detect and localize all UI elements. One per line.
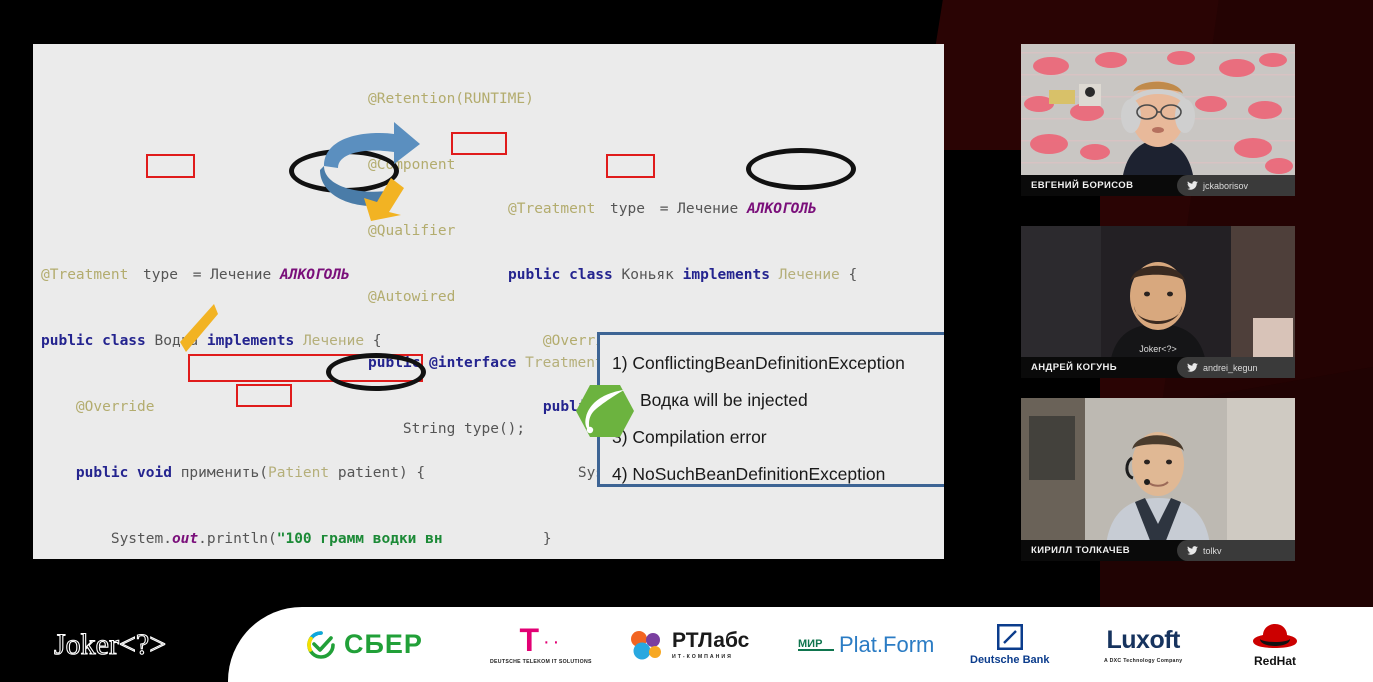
broadcast-screen: @Retention(RUNTIME) @Component @Qualifie… — [0, 0, 1373, 682]
joker-logo-text: Joker<?> — [54, 628, 166, 661]
redhat-label: RedHat — [1254, 654, 1296, 668]
answer-option-1[interactable]: 1) ConflictingBeanDefinitionException — [612, 345, 944, 382]
telekom-caption: DEUTSCHE TELEKOM IT SOLUTIONS — [490, 659, 592, 665]
sponsor-logo-deutsche-telekom[interactable]: T ·· DEUTSCHE TELEKOM IT SOLUTIONS — [490, 607, 592, 682]
sponsor-logo-redhat[interactable]: RedHat — [1250, 607, 1300, 682]
twitter-icon — [1187, 546, 1198, 555]
yellow-slash-icon — [178, 302, 218, 354]
deutsche-bank-icon — [997, 624, 1023, 650]
video-tile-speaker-3[interactable]: КИРИЛЛ ТОЛКАЧЕВ tolkv — [1021, 398, 1295, 561]
sber-label: СБЕР — [344, 629, 423, 660]
speaker-name-1: ЕВГЕНИЙ БОРИСОВ — [1031, 180, 1133, 191]
rtlabs-mark-icon — [628, 630, 666, 660]
rtlabs-label: РТЛабс — [672, 630, 749, 651]
speaker-name-bar-1: ЕВГЕНИЙ БОРИСОВ jckaborisov — [1021, 175, 1295, 196]
speaker-handle-1: jckaborisov — [1203, 181, 1248, 191]
code-token-alcohol-left: АЛКОГОЛЬ — [280, 267, 350, 283]
speaker-handle-pill-1[interactable]: jckaborisov — [1177, 175, 1295, 196]
sponsor-logo-deutsche-bank[interactable]: Deutsche Bank — [970, 607, 1049, 682]
joker-logo: Joker<?> — [52, 616, 192, 672]
twitter-icon — [1187, 363, 1198, 372]
speaker-handle-pill-3[interactable]: tolkv — [1177, 540, 1295, 561]
deutsche-bank-label: Deutsche Bank — [970, 654, 1049, 666]
speaker-handle-3: tolkv — [1203, 546, 1222, 556]
code-token-type-right: type — [604, 201, 651, 217]
rtlabs-caption: ИТ-КОМПАНИЯ — [672, 654, 749, 660]
luxoft-label: Luxoft — [1107, 626, 1180, 655]
annotation-arrows — [316, 116, 446, 221]
shared-slide: @Retention(RUNTIME) @Component @Qualifie… — [33, 44, 944, 559]
code-token-alcohol-right: АЛКОГОЛЬ — [747, 201, 817, 217]
speaker-handle-pill-2[interactable]: andrei_kegun — [1177, 357, 1295, 378]
speaker-name-bar-3: КИРИЛЛ ТОЛКАЧЕВ tolkv — [1021, 540, 1295, 561]
answers-panel: 1) ConflictingBeanDefinitionException Во… — [597, 332, 944, 487]
video-feed-1 — [1021, 44, 1295, 196]
svg-text:МИР: МИР — [798, 638, 822, 650]
speaker-name-bar-2: АНДРЕЙ КОГУНЬ andrei_kegun — [1021, 357, 1295, 378]
speaker-name-2: АНДРЕЙ КОГУНЬ — [1031, 362, 1117, 373]
sponsor-logo-luxoft[interactable]: Luxoft A DXC Technology Company — [1104, 607, 1182, 682]
speaker-handle-2: andrei_kegun — [1203, 363, 1258, 373]
svg-text:Joker<?>: Joker<?> — [1139, 344, 1177, 354]
sponsor-logo-rtlabs[interactable]: РТЛабс ИТ-КОМПАНИЯ — [628, 607, 749, 682]
mir-icon: МИР — [798, 636, 834, 654]
sponsor-bar: СБЕР T ·· DEUTSCHE TELEKOM IT SOLUTIONS … — [228, 607, 1373, 682]
video-feed-2: Joker<?> — [1021, 226, 1295, 378]
video-tile-speaker-2[interactable]: Joker<?> АНДРЕЙ КОГУНЬ andrei_kegun — [1021, 226, 1295, 378]
twitter-icon — [1187, 181, 1198, 190]
answer-option-3[interactable]: 3) Compilation error — [612, 419, 944, 456]
code-token-type-left: type — [137, 267, 184, 283]
telekom-t-label: T — [519, 628, 539, 654]
sponsor-logo-sber[interactable]: СБЕР — [306, 607, 423, 682]
video-tile-speaker-1[interactable]: ЕВГЕНИЙ БОРИСОВ jckaborisov — [1021, 44, 1295, 196]
redhat-fedora-icon — [1250, 622, 1300, 652]
blue-curved-arrow-icon — [324, 122, 420, 168]
video-feed-3 — [1021, 398, 1295, 561]
luxoft-caption: A DXC Technology Company — [1104, 658, 1182, 664]
speaker-name-3: КИРИЛЛ ТОЛКАЧЕВ — [1031, 545, 1130, 556]
answer-option-4[interactable]: 4) NoSuchBeanDefinitionException — [612, 456, 944, 493]
answer-option-2[interactable]: Водка will be injected — [612, 382, 944, 419]
sponsor-logo-mir-platform[interactable]: МИР Plat.Form — [798, 607, 934, 682]
sber-check-icon — [306, 630, 336, 660]
spring-leaf-icon — [574, 383, 636, 439]
platform-label: Plat.Form — [839, 632, 934, 658]
